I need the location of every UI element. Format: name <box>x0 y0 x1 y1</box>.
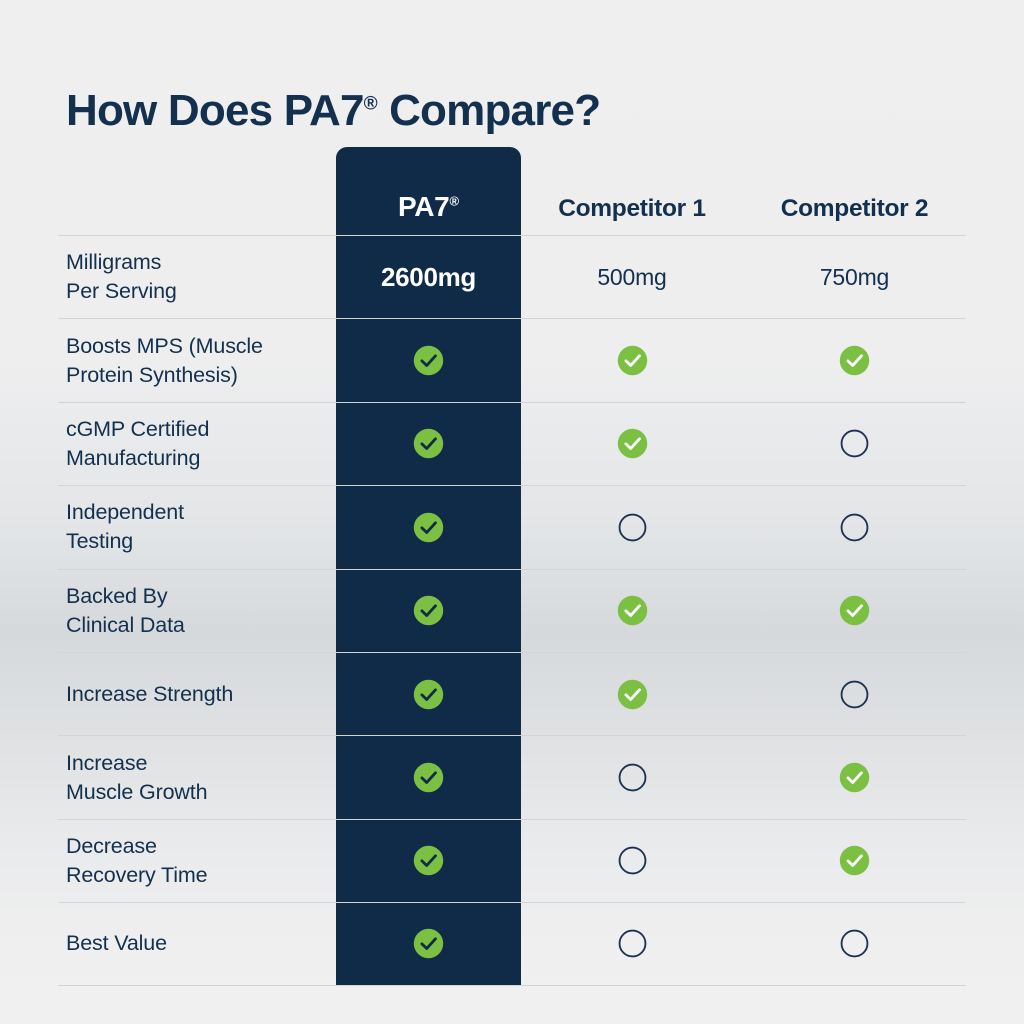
check-circle-icon <box>839 845 870 876</box>
registered-mark-icon: ® <box>449 194 459 209</box>
table-row: DecreaseRecovery Time <box>58 819 966 902</box>
empty-circle-icon <box>618 513 647 542</box>
check-circle-icon <box>839 762 870 793</box>
cell-competitor1 <box>521 345 743 376</box>
row-label: cGMP CertifiedManufacturing <box>58 415 336 473</box>
check-circle-icon <box>839 595 870 626</box>
header-label-competitor1: Competitor 1 <box>558 195 706 223</box>
cell-pa7 <box>336 845 521 876</box>
cell-value-competitor2: 750mg <box>820 264 889 291</box>
cell-pa7 <box>336 928 521 959</box>
row-label: Boosts MPS (MuscleProtein Synthesis) <box>58 332 336 390</box>
empty-circle-icon <box>840 680 869 709</box>
cell-competitor2 <box>743 762 966 793</box>
cell-pa7: 2600mg <box>336 262 521 293</box>
cell-competitor1 <box>521 428 743 459</box>
header-cell-competitor2: Competitor 2 <box>743 195 966 223</box>
table-header-row: PA7®Competitor 1Competitor 2 <box>58 147 966 235</box>
empty-circle-icon <box>840 429 869 458</box>
row-label: Backed ByClinical Data <box>58 582 336 640</box>
cell-competitor2 <box>743 345 966 376</box>
cell-pa7 <box>336 679 521 710</box>
empty-circle-icon <box>840 513 869 542</box>
cell-competitor2 <box>743 513 966 542</box>
check-circle-icon <box>413 595 444 626</box>
check-circle-icon <box>413 845 444 876</box>
check-circle-icon <box>413 512 444 543</box>
cell-competitor1 <box>521 846 743 875</box>
check-circle-icon <box>617 595 648 626</box>
header-cell-competitor1: Competitor 1 <box>521 195 743 223</box>
row-label: Increase Strength <box>58 680 336 709</box>
check-circle-icon <box>413 428 444 459</box>
row-label: IndependentTesting <box>58 498 336 556</box>
cell-competitor1 <box>521 679 743 710</box>
page-title-tail: Compare? <box>378 86 601 135</box>
table-row: Boosts MPS (MuscleProtein Synthesis) <box>58 318 966 401</box>
table-row: IncreaseMuscle Growth <box>58 735 966 818</box>
row-label: MilligramsPer Serving <box>58 248 336 306</box>
cell-pa7 <box>336 428 521 459</box>
check-circle-icon <box>413 762 444 793</box>
row-label: Best Value <box>58 929 336 958</box>
cell-competitor2 <box>743 845 966 876</box>
cell-competitor2 <box>743 595 966 626</box>
cell-competitor2 <box>743 680 966 709</box>
header-label-competitor2: Competitor 2 <box>781 195 929 223</box>
check-circle-icon <box>413 928 444 959</box>
empty-circle-icon <box>618 929 647 958</box>
table-row: cGMP CertifiedManufacturing <box>58 402 966 485</box>
table-row: MilligramsPer Serving2600mg500mg750mg <box>58 235 966 318</box>
cell-competitor1 <box>521 595 743 626</box>
cell-pa7 <box>336 762 521 793</box>
cell-competitor2 <box>743 429 966 458</box>
check-circle-icon <box>617 679 648 710</box>
row-label: IncreaseMuscle Growth <box>58 749 336 807</box>
check-circle-icon <box>413 345 444 376</box>
header-label-pa7: PA7® <box>398 191 459 223</box>
check-circle-icon <box>413 679 444 710</box>
table-row: Best Value <box>58 902 966 985</box>
empty-circle-icon <box>840 929 869 958</box>
table-row: Increase Strength <box>58 652 966 735</box>
table-row: IndependentTesting <box>58 485 966 568</box>
cell-competitor2 <box>743 929 966 958</box>
cell-competitor2: 750mg <box>743 264 966 291</box>
empty-circle-icon <box>618 763 647 792</box>
cell-value-pa7: 2600mg <box>381 262 476 293</box>
cell-competitor1: 500mg <box>521 264 743 291</box>
cell-pa7 <box>336 595 521 626</box>
check-circle-icon <box>617 345 648 376</box>
cell-competitor1 <box>521 929 743 958</box>
header-cell-pa7: PA7® <box>336 191 521 223</box>
cell-competitor1 <box>521 763 743 792</box>
check-circle-icon <box>839 345 870 376</box>
cell-pa7 <box>336 345 521 376</box>
comparison-table: PA7®Competitor 1Competitor 2MilligramsPe… <box>58 147 966 986</box>
table-row: Backed ByClinical Data <box>58 569 966 652</box>
check-circle-icon <box>617 428 648 459</box>
cell-value-competitor1: 500mg <box>597 264 666 291</box>
empty-circle-icon <box>618 846 647 875</box>
comparison-page: How Does PA7® Compare? PA7®Competitor 1C… <box>0 0 1024 1024</box>
registered-mark-icon: ® <box>364 94 378 115</box>
page-title: How Does PA7® Compare? <box>66 86 600 136</box>
row-label: DecreaseRecovery Time <box>58 832 336 890</box>
cell-competitor1 <box>521 513 743 542</box>
cell-pa7 <box>336 512 521 543</box>
page-title-main: How Does PA7 <box>66 86 364 135</box>
